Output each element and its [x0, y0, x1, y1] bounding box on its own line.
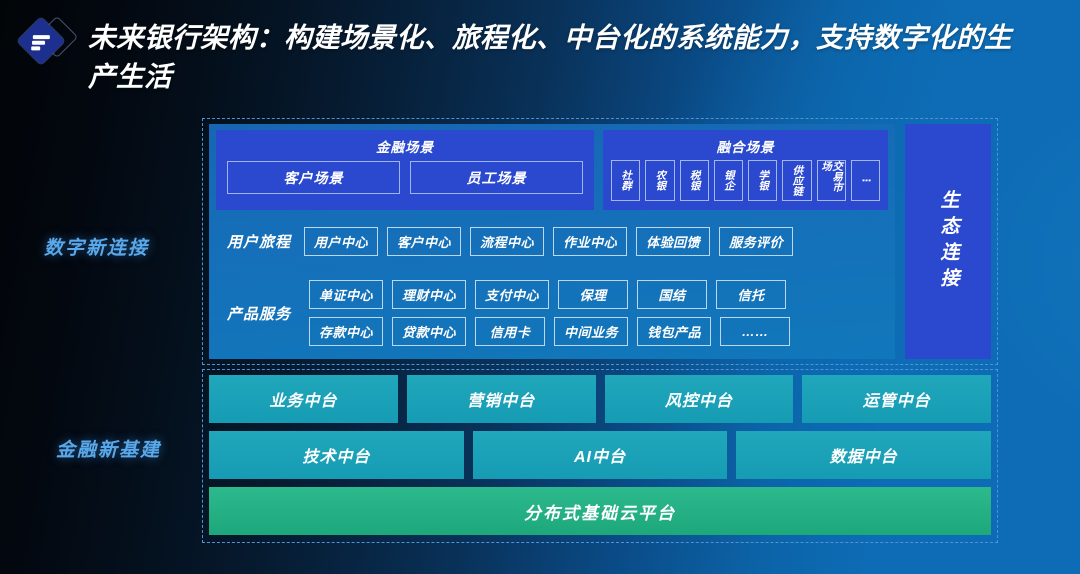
journey-cell-experience-feedback[interactable]: 体验回馈	[636, 227, 710, 256]
journey-cell-customer-center[interactable]: 客户中心	[387, 227, 461, 256]
brand-diamond-logo	[12, 12, 80, 80]
product-service-line-1: 单证中心 理财中心 支付中心 保理 国结 信托	[309, 280, 790, 309]
infra-cell-marketing-platform[interactable]: 营销中台	[407, 375, 596, 423]
fusion-scenario-panel: 融合场景 社群 农银 税银 银企 学银 供应链 交易市场 ⋮	[603, 130, 888, 210]
product-cell-wallet-product[interactable]: 钱包产品	[637, 317, 711, 346]
infra-cell-ai-platform[interactable]: AI中台	[473, 431, 728, 479]
fusion-box-supply-chain[interactable]: 供应链	[782, 160, 811, 201]
fusion-box-bank-enterprise[interactable]: 银企	[714, 160, 743, 201]
product-cell-loan-center[interactable]: 贷款中心	[392, 317, 466, 346]
scenario-row: 金融场景 客户场景 员工场景 融合场景 社群 农银 税银 银企 学银 供应链	[216, 130, 888, 210]
infrastructure-row-1: 业务中台 营销中台 风控中台 运管中台	[209, 375, 991, 423]
product-cell-payment-center[interactable]: 支付中心	[475, 280, 549, 309]
financial-scenario-panel: 金融场景 客户场景 员工场景	[216, 130, 594, 210]
scenario-box-employee[interactable]: 员工场景	[410, 161, 583, 194]
product-service-row: 产品服务 单证中心 理财中心 支付中心 保理 国结 信托 存款中心 贷款中心 信…	[216, 272, 888, 354]
journey-cell-operation-center[interactable]: 作业中心	[553, 227, 627, 256]
infra-cell-business-platform[interactable]: 业务中台	[209, 375, 398, 423]
fusion-box-school-bank[interactable]: 学银	[748, 160, 777, 201]
fusion-box-tax-bank[interactable]: 税银	[680, 160, 709, 201]
product-service-grid: 单证中心 理财中心 支付中心 保理 国结 信托 存款中心 贷款中心 信用卡 中间…	[309, 280, 790, 346]
infra-cell-technology-platform[interactable]: 技术中台	[209, 431, 464, 479]
product-cell-document-center[interactable]: 单证中心	[309, 280, 383, 309]
product-cell-factoring[interactable]: 保理	[558, 280, 628, 309]
fusion-box-agri-bank[interactable]: 农银	[645, 160, 674, 201]
journey-cell-service-evaluation[interactable]: 服务评价	[719, 227, 793, 256]
slide-root: 未来银行架构：构建场景化、旅程化、中台化的系统能力，支持数字化的生产生活 数字新…	[0, 0, 1080, 574]
slide-header: 未来银行架构：构建场景化、旅程化、中台化的系统能力，支持数字化的生产生活	[0, 0, 1080, 104]
product-cell-credit-card[interactable]: 信用卡	[475, 317, 545, 346]
product-cell-intl-settlement[interactable]: 国结	[637, 280, 707, 309]
fusion-scenario-title: 融合场景	[603, 130, 888, 156]
side-label-digital-connection: 数字新连接	[44, 233, 149, 260]
user-journey-label: 用户旅程	[227, 231, 291, 252]
infra-cell-operations-platform[interactable]: 运管中台	[802, 375, 991, 423]
product-cell-intermediary-business[interactable]: 中间业务	[554, 317, 628, 346]
ecosystem-connection-column[interactable]: 生态连接	[905, 124, 991, 359]
logo-bar-2	[32, 41, 45, 45]
product-cell-trust[interactable]: 信托	[716, 280, 786, 309]
infra-cell-risk-platform[interactable]: 风控中台	[605, 375, 794, 423]
distributed-cloud-platform-bar[interactable]: 分布式基础云平台	[209, 487, 991, 535]
upper-main-panel: 金融场景 客户场景 员工场景 融合场景 社群 农银 税银 银企 学银 供应链	[209, 124, 895, 359]
product-service-label: 产品服务	[227, 303, 291, 324]
journey-cell-process-center[interactable]: 流程中心	[470, 227, 544, 256]
user-journey-row: 用户旅程 用户中心 客户中心 流程中心 作业中心 体验回馈 服务评价	[216, 218, 888, 264]
user-journey-cells: 用户中心 客户中心 流程中心 作业中心 体验回馈 服务评价	[304, 227, 793, 256]
product-service-line-2: 存款中心 贷款中心 信用卡 中间业务 钱包产品 ……	[309, 317, 790, 346]
fusion-box-trading-market[interactable]: 交易市场	[817, 160, 846, 201]
logo-bar-3	[31, 46, 40, 50]
logo-bar-1	[33, 35, 50, 39]
product-cell-wealth-center[interactable]: 理财中心	[392, 280, 466, 309]
slide-title: 未来银行架构：构建场景化、旅程化、中台化的系统能力，支持数字化的生产生活	[88, 18, 1018, 96]
financial-scenario-boxes: 客户场景 员工场景	[216, 156, 594, 194]
product-cell-deposit-center[interactable]: 存款中心	[309, 317, 383, 346]
scenario-box-customer[interactable]: 客户场景	[227, 161, 400, 194]
fusion-box-more[interactable]: ⋮	[851, 160, 880, 201]
infrastructure-body: 业务中台 营销中台 风控中台 运管中台 技术中台 AI中台 数据中台 分布式基础…	[209, 375, 991, 537]
product-cell-more[interactable]: ……	[720, 317, 790, 346]
financial-scenario-title: 金融场景	[216, 130, 594, 156]
journey-cell-user-center[interactable]: 用户中心	[304, 227, 378, 256]
upper-architecture-body: 金融场景 客户场景 员工场景 融合场景 社群 农银 税银 银企 学银 供应链	[209, 124, 991, 359]
side-label-financial-infrastructure: 金融新基建	[56, 435, 161, 462]
infrastructure-row-2: 技术中台 AI中台 数据中台	[209, 431, 991, 479]
infra-cell-data-platform[interactable]: 数据中台	[736, 431, 991, 479]
fusion-scenario-boxes: 社群 农银 税银 银企 学银 供应链 交易市场 ⋮	[603, 156, 888, 201]
fusion-box-community[interactable]: 社群	[611, 160, 640, 201]
